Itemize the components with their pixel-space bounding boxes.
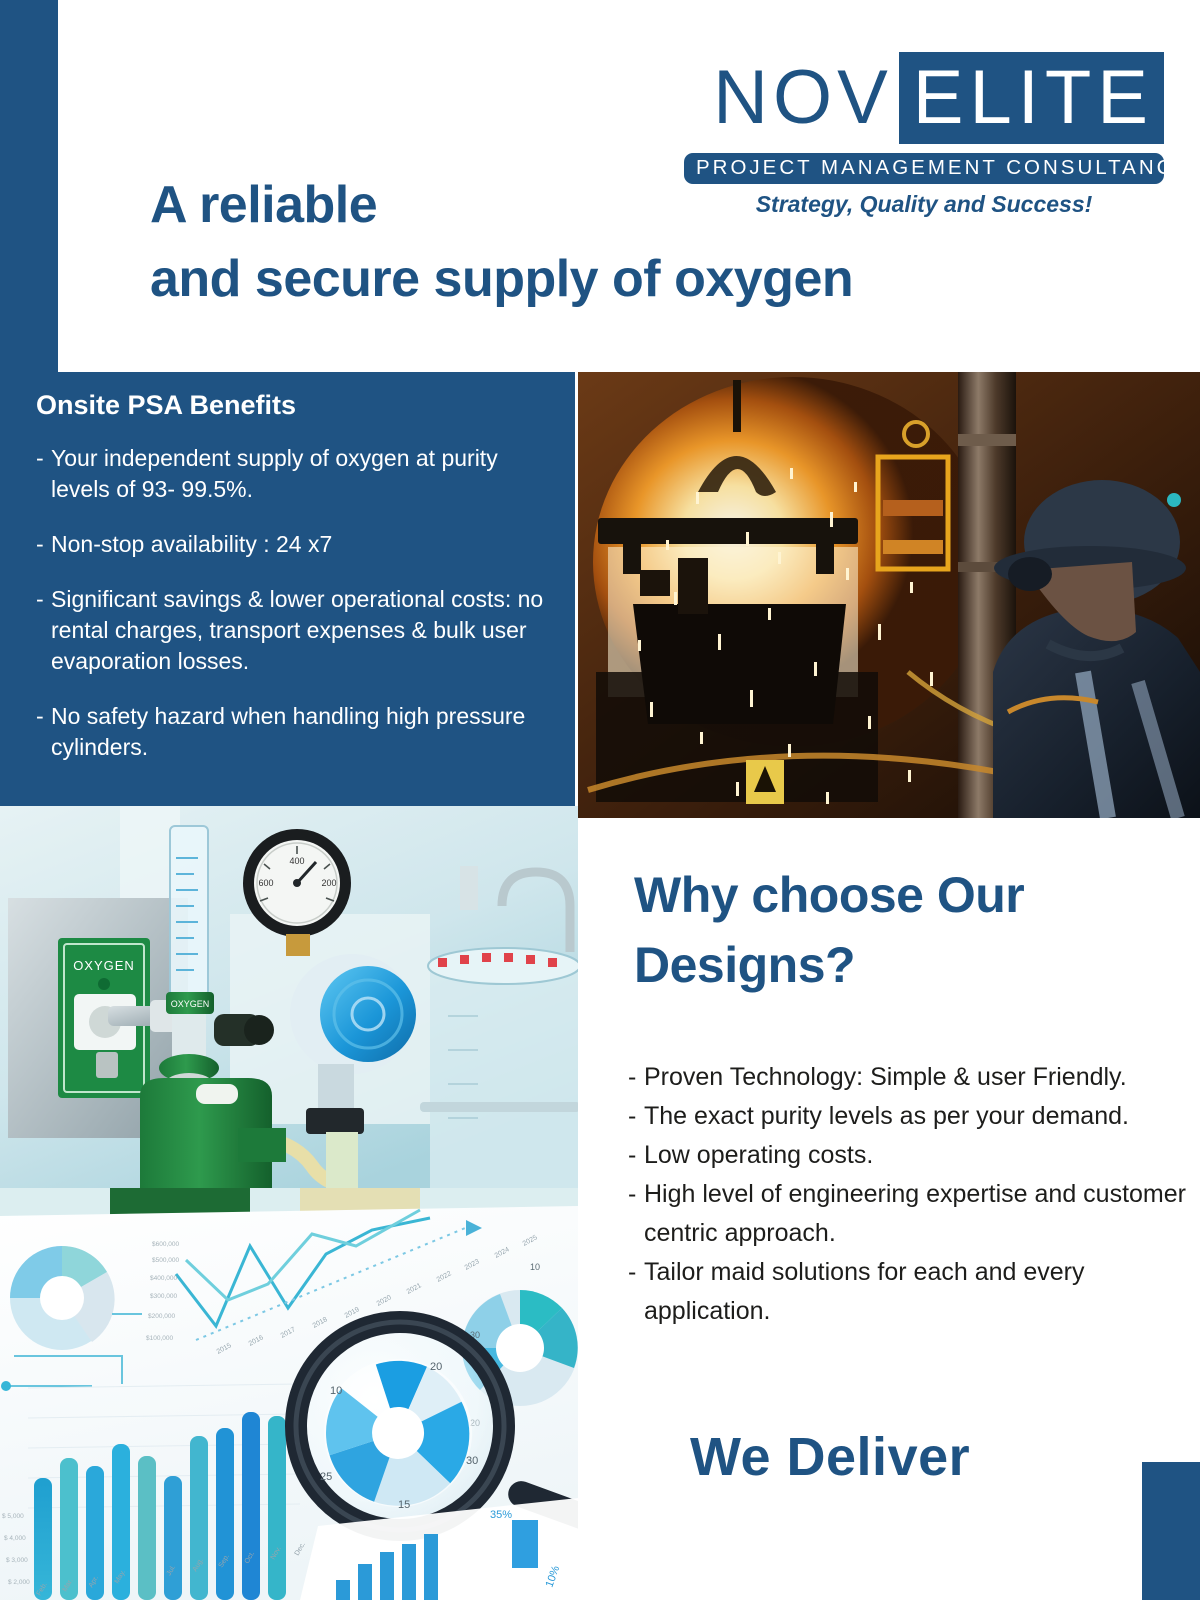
benefit-list-item: - Significant savings & lower operationa…: [36, 584, 561, 677]
svg-text:25: 25: [320, 1471, 332, 1483]
svg-text:$ 4,000: $ 4,000: [4, 1535, 26, 1542]
benefit-text: Your independent supply of oxygen at pur…: [51, 443, 561, 505]
svg-text:$100,000: $100,000: [146, 1335, 173, 1342]
logo-wordmark: NOV ELITE: [684, 52, 1164, 144]
svg-text:$ 3,000: $ 3,000: [6, 1557, 28, 1564]
why-title-line-1: Why choose Our: [634, 860, 1174, 930]
why-choose-list: - Proven Technology: Simple & user Frien…: [628, 1058, 1188, 1331]
why-item-text: The exact purity levels as per your dema…: [644, 1097, 1188, 1136]
page-headline: A reliable and secure supply of oxygen: [150, 168, 853, 316]
svg-text:$ 5,000: $ 5,000: [2, 1513, 24, 1520]
benefit-list-item: - Your independent supply of oxygen at p…: [36, 443, 561, 505]
onsite-psa-benefits-panel: Onsite PSA Benefits - Your independent s…: [0, 372, 575, 806]
bullet-dash: -: [36, 701, 51, 763]
why-title-line-2: Designs?: [634, 930, 1174, 1000]
svg-text:$500,000: $500,000: [152, 1257, 179, 1264]
why-choose-title: Why choose Our Designs?: [634, 860, 1174, 1000]
svg-text:10: 10: [330, 1385, 342, 1397]
svg-text:OXYGEN: OXYGEN: [171, 999, 210, 1009]
oxygen-equipment-illustration: OXYGEN OXYGEN: [0, 806, 578, 1188]
benefit-text: No safety hazard when handling high pres…: [51, 701, 561, 763]
why-item-text: Proven Technology: Simple & user Friendl…: [644, 1058, 1188, 1097]
analytics-illustration: 2015 2016 2017 2018 2019 2020 2021 2022 …: [0, 1188, 578, 1600]
why-list-item: - High level of engineering expertise an…: [628, 1175, 1188, 1253]
why-list-item: - Low operating costs.: [628, 1136, 1188, 1175]
why-item-text: Tailor maid solutions for each and every…: [644, 1253, 1188, 1331]
svg-text:200: 200: [321, 878, 336, 888]
left-accent-bar: [0, 0, 58, 372]
why-list-item: - Tailor maid solutions for each and eve…: [628, 1253, 1188, 1331]
bullet-dash: -: [36, 584, 51, 677]
bottom-right-accent-block: [1142, 1462, 1200, 1600]
benefits-title: Onsite PSA Benefits: [36, 390, 561, 421]
logo-accent-text: ELITE: [899, 52, 1164, 144]
why-choose-section: Why choose Our Designs? - Proven Technol…: [578, 818, 1200, 1600]
svg-text:35%: 35%: [490, 1509, 512, 1521]
we-deliver-tagline: We Deliver: [690, 1426, 970, 1488]
bullet-dash: -: [36, 529, 51, 560]
svg-text:20: 20: [430, 1361, 442, 1373]
svg-text:$300,000: $300,000: [150, 1293, 177, 1300]
logo-primary-text: NOV: [713, 52, 899, 144]
benefit-text: Significant savings & lower operational …: [51, 584, 561, 677]
benefit-text: Non-stop availability : 24 x7: [51, 529, 561, 560]
medical-oxygen-flowmeter-photo: OXYGEN OXYGEN: [0, 806, 578, 1188]
bullet-dash: -: [36, 443, 51, 505]
flyer-page: NOV ELITE PROJECT MANAGEMENT CONSULTANCY…: [0, 0, 1200, 1600]
bullet-dash: -: [628, 1136, 644, 1175]
benefit-list-item: - Non-stop availability : 24 x7: [36, 529, 561, 560]
bullet-dash: -: [628, 1253, 644, 1331]
bullet-dash: -: [628, 1058, 644, 1097]
svg-text:$200,000: $200,000: [148, 1313, 175, 1320]
bullet-dash: -: [628, 1175, 644, 1253]
svg-text:OXYGEN: OXYGEN: [73, 958, 135, 973]
headline-line-2: and secure supply of oxygen: [150, 242, 853, 316]
svg-text:$400,000: $400,000: [150, 1275, 177, 1282]
steel-foundry-furnace-photo: [578, 372, 1200, 818]
svg-text:10: 10: [530, 1262, 540, 1272]
svg-text:600: 600: [258, 878, 273, 888]
business-analytics-charts-photo: 2015 2016 2017 2018 2019 2020 2021 2022 …: [0, 1188, 578, 1600]
why-list-item: - Proven Technology: Simple & user Frien…: [628, 1058, 1188, 1097]
why-list-item: - The exact purity levels as per your de…: [628, 1097, 1188, 1136]
svg-text:30: 30: [466, 1455, 478, 1467]
svg-text:$ 2,000: $ 2,000: [8, 1579, 30, 1586]
furnace-illustration: [578, 372, 1200, 818]
svg-text:400: 400: [289, 856, 304, 866]
header-section: NOV ELITE PROJECT MANAGEMENT CONSULTANCY…: [58, 0, 1200, 372]
svg-text:$600,000: $600,000: [152, 1241, 179, 1248]
why-item-text: High level of engineering expertise and …: [644, 1175, 1188, 1253]
bullet-dash: -: [628, 1097, 644, 1136]
svg-text:15: 15: [398, 1499, 410, 1511]
why-item-text: Low operating costs.: [644, 1136, 1188, 1175]
headline-line-1: A reliable: [150, 168, 853, 242]
benefit-list-item: - No safety hazard when handling high pr…: [36, 701, 561, 763]
